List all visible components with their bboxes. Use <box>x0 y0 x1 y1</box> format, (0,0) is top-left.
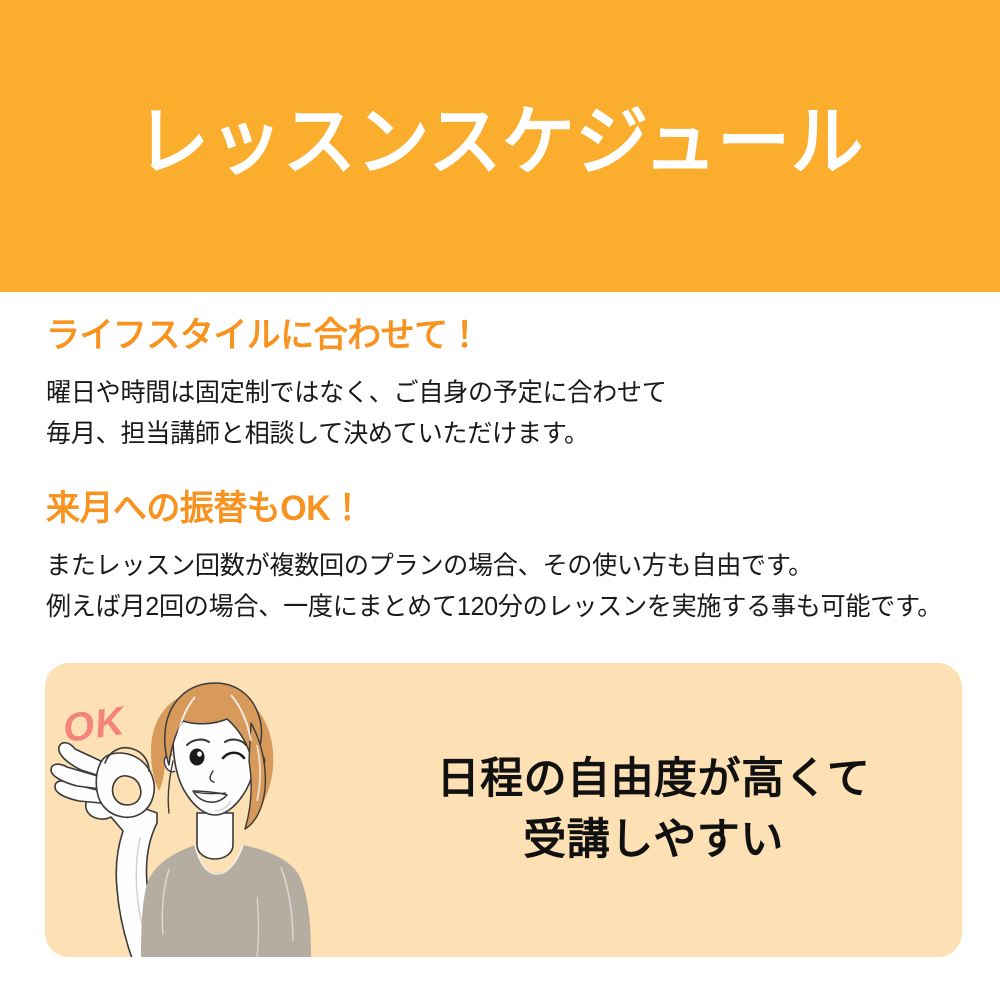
body-line: 例えば月2回の場合、一度にまとめて120分のレッスンを実施する事も可能です。 <box>46 587 942 628</box>
page-title: レッスンスケジュール <box>136 105 864 181</box>
section-body-lifestyle: 曜日や時間は固定制ではなく、ご自身の予定に合わせて 毎月、担当講師と相談して決め… <box>46 373 667 455</box>
page-root: レッスンスケジュール ライフスタイルに合わせて！ 曜日や時間は固定制ではなく、ご… <box>0 0 1000 1000</box>
body-line: 毎月、担当講師と相談して決めていただけます。 <box>46 414 667 455</box>
woman-ok-illustration-svg <box>45 663 375 957</box>
section-carryover: 来月への振替もOK！ またレッスン回数が複数回のプランの場合、その使い方も自由で… <box>46 491 956 628</box>
eye-open <box>190 749 205 766</box>
section-body-carryover: またレッスン回数が複数回のプランの場合、その使い方も自由です。 例えば月2回の場… <box>46 546 942 628</box>
card-caption-line: 日程の自由度が高くて <box>437 752 871 807</box>
section-heading-carryover: 来月への振替もOK！ <box>46 491 928 528</box>
section-lifestyle: ライフスタイルに合わせて！ 曜日や時間は固定制ではなく、ご自身の予定に合わせて … <box>46 318 676 455</box>
ok-circle-hole <box>113 776 141 805</box>
body-line: またレッスン回数が複数回のプランの場合、その使い方も自由です。 <box>46 546 942 587</box>
blouse-path <box>141 845 311 957</box>
card-caption-line: 受講しやすい <box>523 813 784 868</box>
body-line: 曜日や時間は固定制ではなく、ご自身の予定に合わせて <box>46 373 667 414</box>
neck-path <box>197 813 233 859</box>
highlight-card: OK 日程の自由度が高くて 受講しやすい <box>45 663 962 957</box>
eye-catchlight <box>197 751 202 756</box>
illustration-woman-ok: OK <box>45 663 375 957</box>
card-caption: 日程の自由度が高くて 受講しやすい <box>345 663 962 957</box>
section-heading-lifestyle: ライフスタイルに合わせて！ <box>46 318 657 355</box>
header-banner: レッスンスケジュール <box>0 0 1000 292</box>
